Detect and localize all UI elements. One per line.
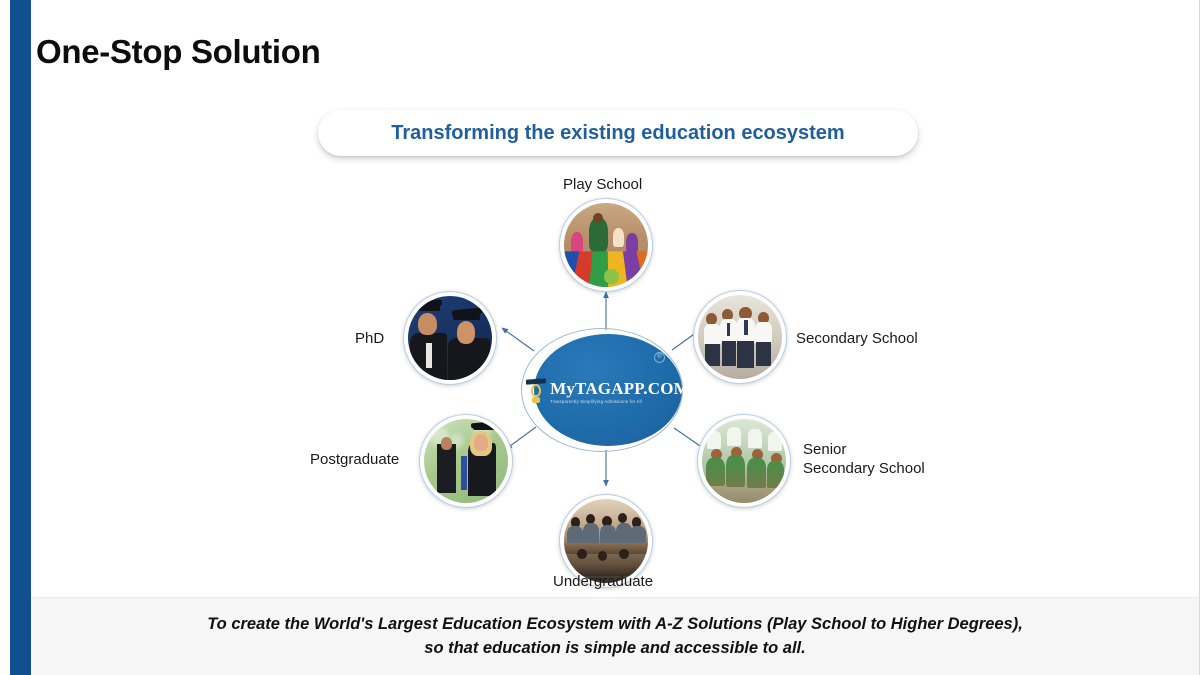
label-secondary-school: Secondary School <box>796 329 918 348</box>
label-undergraduate: Undergraduate <box>553 572 653 591</box>
node-play-school[interactable] <box>559 198 653 292</box>
phd-photo <box>408 296 492 380</box>
arrow-to-phd <box>502 328 534 351</box>
label-postgraduate: Postgraduate <box>310 450 399 469</box>
caption-line-2: so that education is simple and accessib… <box>424 637 805 661</box>
play-school-photo <box>564 203 648 287</box>
hub-logo: MyTAGAPP.COM Transparently Simplifying A… <box>526 378 690 406</box>
hub-wordmark: MyTAGAPP.COM <box>550 380 690 397</box>
caption-line-1: To create the World's Largest Education … <box>207 613 1023 637</box>
hub-logo-circle: ® MyTAGAPP.COM Transparently Simplifying… <box>534 334 682 446</box>
slide-canvas: One-Stop Solution Transforming the exist… <box>0 0 1200 675</box>
label-senior-secondary: Senior Secondary School <box>803 440 925 478</box>
postgraduate-photo <box>424 419 508 503</box>
node-senior-secondary[interactable] <box>697 414 791 508</box>
graduation-cap-lamp-icon <box>526 378 546 406</box>
caption-band: To create the World's Largest Education … <box>31 597 1199 675</box>
ecosystem-diagram: ® MyTAGAPP.COM Transparently Simplifying… <box>0 0 1200 600</box>
secondary-school-photo <box>698 295 782 379</box>
hub-logo-text: MyTAGAPP.COM Transparently Simplifying A… <box>550 380 690 404</box>
hub-tagline: Transparently Simplifying Admissions for… <box>550 400 690 404</box>
undergraduate-photo <box>564 499 648 583</box>
node-phd[interactable] <box>403 291 497 385</box>
label-play-school: Play School <box>563 175 642 194</box>
label-phd: PhD <box>355 329 384 348</box>
node-secondary-school[interactable] <box>693 290 787 384</box>
registered-mark-icon: ® <box>654 352 665 363</box>
senior-secondary-photo <box>702 419 786 503</box>
node-postgraduate[interactable] <box>419 414 513 508</box>
